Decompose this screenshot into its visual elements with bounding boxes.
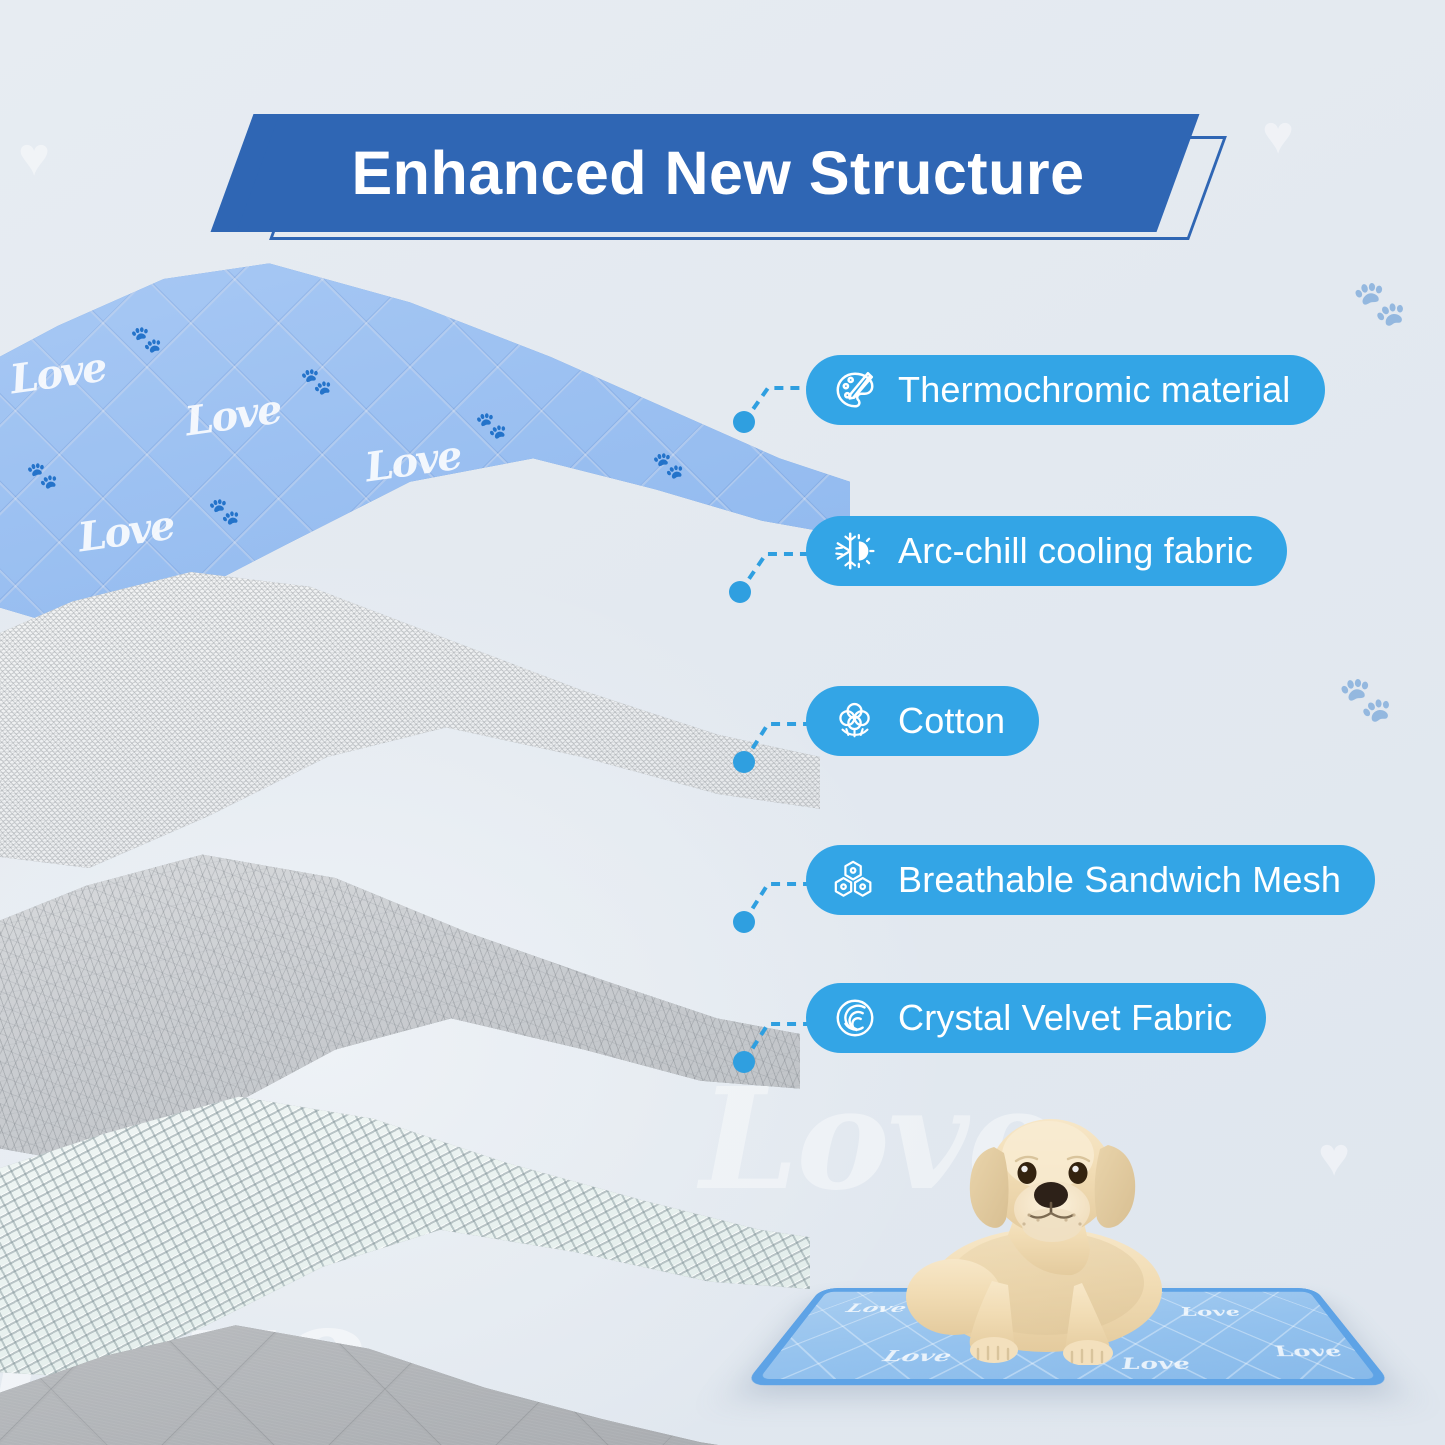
- feature-label: Arc-chill cooling fabric: [898, 530, 1253, 572]
- love-motif: Love: [362, 432, 463, 492]
- feature-pill-cotton[interactable]: Cotton: [806, 686, 1039, 756]
- feature-pill-thermochromic[interactable]: Thermochromic material: [806, 355, 1325, 425]
- honeycomb-icon: [832, 857, 878, 903]
- paw-motif: 🐾: [652, 452, 684, 478]
- feature-label: Breathable Sandwich Mesh: [898, 859, 1341, 901]
- page-title: Enhanced New Structure: [258, 114, 1178, 232]
- paw-motif: 🐾: [208, 498, 240, 524]
- snowflake-sun-icon: [832, 528, 878, 574]
- paw-watermark: 🐾: [1352, 282, 1407, 326]
- feature-pill-sandwich-mesh[interactable]: Breathable Sandwich Mesh: [806, 845, 1375, 915]
- layer-5-crystal-velvet: [0, 1255, 800, 1445]
- paw-motif: 🐾: [130, 326, 162, 352]
- fabric-layer-stack: Love Love Love Love Love Love 🐾 🐾 🐾 🐾 🐾 …: [0, 240, 870, 1390]
- feature-label: Cotton: [898, 700, 1005, 742]
- paw-watermark: 🐾: [1338, 678, 1393, 722]
- palette-icon: [832, 367, 878, 413]
- cotton-boll-icon: [832, 698, 878, 744]
- paw-motif: 🐾: [26, 462, 58, 488]
- layer-5-surface: [0, 1255, 800, 1445]
- paw-motif: 🐾: [300, 368, 332, 394]
- love-motif: Love: [7, 344, 108, 404]
- product-photo: Love Love Love Love Love Love: [770, 1075, 1445, 1445]
- dog-illustration: [896, 1085, 1226, 1365]
- feature-pill-arc-chill[interactable]: Arc-chill cooling fabric: [806, 516, 1287, 586]
- love-motif: Love: [539, 470, 640, 530]
- feature-pill-crystal-velvet[interactable]: Crystal Velvet Fabric: [806, 983, 1266, 1053]
- feature-label: Crystal Velvet Fabric: [898, 997, 1232, 1039]
- feature-label: Thermochromic material: [898, 369, 1291, 411]
- velvet-swirl-icon: [832, 995, 878, 1041]
- love-motif: Love: [1270, 1343, 1347, 1360]
- love-motif: Love: [182, 386, 283, 446]
- paw-motif: 🐾: [475, 412, 507, 438]
- header-banner: Enhanced New Structure: [0, 52, 1445, 232]
